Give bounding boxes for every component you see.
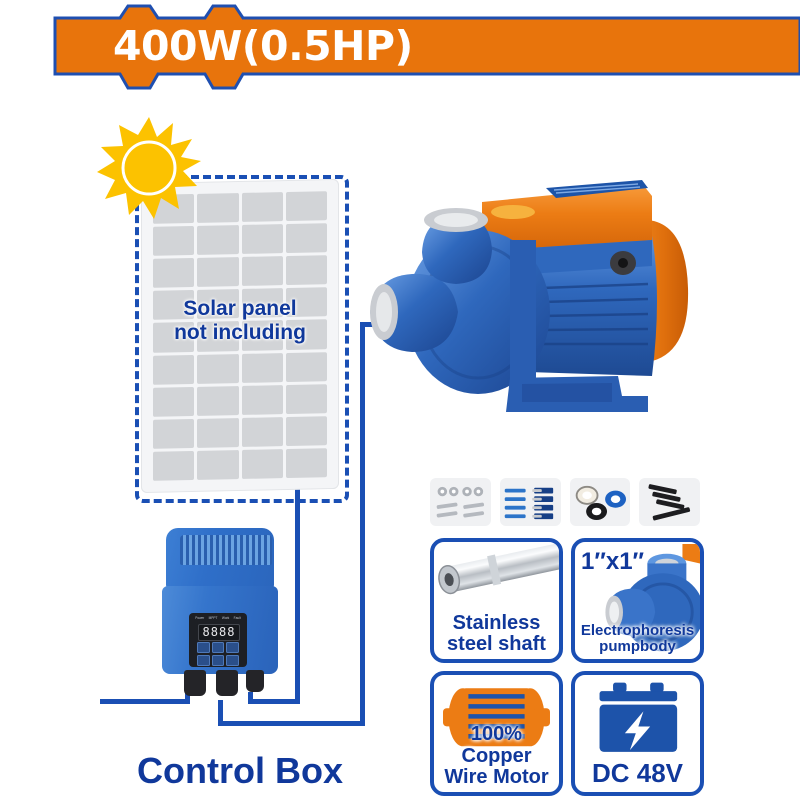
- seals-icon: [570, 478, 631, 526]
- accessories-row: [430, 478, 700, 526]
- up-key[interactable]: [212, 642, 225, 653]
- accessory-rods-and-clamps: [639, 478, 700, 526]
- feature-size-label: 1″x1″: [581, 548, 644, 576]
- cable-glands: [172, 670, 270, 698]
- control-box-keypad-panel[interactable]: Power MPPT Work Fault 8888: [189, 613, 247, 667]
- sun-icon: [95, 115, 203, 223]
- wire-pump-to-box-h: [218, 721, 365, 726]
- feature-caption-line1: Electrophoresis: [575, 623, 700, 639]
- indicator-labels: Power MPPT Work Fault: [193, 616, 243, 620]
- indicator-fault: Fault: [234, 616, 241, 620]
- control-box-top-shell: [166, 528, 274, 590]
- keypad[interactable]: [197, 642, 239, 666]
- feature-caption-line1: Stainless: [434, 613, 559, 634]
- feature-stainless-steel-shaft[interactable]: Stainless steel shaft: [430, 538, 563, 663]
- down-key[interactable]: [212, 655, 225, 666]
- feature-caption: Electrophoresis pumpbody: [575, 623, 700, 655]
- feature-caption-line1: 100% Copper: [434, 724, 559, 766]
- stainless-shaft-icon: [430, 538, 563, 606]
- feature-dc-voltage[interactable]: DC 48V: [571, 671, 704, 796]
- cable-gland-left: [184, 670, 206, 696]
- bolts-icon: [430, 478, 491, 526]
- heatsink-fins: [180, 535, 272, 565]
- menu-key[interactable]: [197, 642, 210, 653]
- pump-brand-badge: [491, 205, 535, 219]
- page-title: 400W(0.5HP): [113, 22, 413, 70]
- indicator-work: Work: [222, 616, 229, 620]
- infographic-canvas: 400W(0.5HP): [0, 0, 800, 800]
- feature-caption-line2: steel shaft: [434, 634, 559, 655]
- accessory-bolts-and-washers: [430, 478, 491, 526]
- feature-caption: Stainless steel shaft: [434, 613, 559, 655]
- cable-gland-right: [246, 670, 264, 692]
- feature-caption-line2: pumpbody: [575, 639, 700, 655]
- solar-panel-note-line2: not including: [141, 321, 339, 345]
- wire-panel-lead-v: [295, 480, 300, 703]
- feature-caption-line1: DC 48V: [575, 760, 700, 788]
- control-box-label: Control Box: [80, 750, 400, 792]
- feature-copper-wire-motor[interactable]: 100% Copper Wire Motor: [430, 671, 563, 796]
- solar-panel-note-line1: Solar panel: [141, 297, 339, 321]
- on-off-key[interactable]: [226, 655, 239, 666]
- cable-gland-middle: [216, 670, 238, 696]
- pump-volute-flange: [510, 240, 536, 384]
- feature-caption-line2: Wire Motor: [434, 767, 559, 788]
- solar-panel-note: Solar panel not including: [141, 297, 339, 345]
- accessory-seals-and-o-rings: [570, 478, 631, 526]
- feature-caption: DC 48V: [575, 760, 700, 788]
- indicator-power: Power: [195, 616, 204, 620]
- water-pump-illustration: [360, 140, 705, 435]
- feature-caption: 100% Copper Wire Motor: [434, 724, 559, 788]
- indicator-mppt: MPPT: [209, 616, 218, 620]
- mode-key[interactable]: [226, 642, 239, 653]
- lcd-display: 8888: [198, 624, 240, 641]
- enter-key[interactable]: [197, 655, 210, 666]
- header-banner: 400W(0.5HP): [0, 0, 800, 100]
- solar-panel-group: Solar panel not including: [95, 115, 355, 515]
- feature-grid: Stainless steel shaft 1″x1″ Electrophore…: [430, 538, 704, 796]
- battery-icon: [575, 681, 700, 754]
- cable-ties-icon: [500, 478, 561, 526]
- accessory-cable-ties-and-terminals: [500, 478, 561, 526]
- control-box[interactable]: Power MPPT Work Fault 8888: [160, 528, 280, 713]
- rods-icon: [639, 478, 700, 526]
- feature-electrophoresis-pumpbody[interactable]: 1″x1″ Electrophoresis pumpbody: [571, 538, 704, 663]
